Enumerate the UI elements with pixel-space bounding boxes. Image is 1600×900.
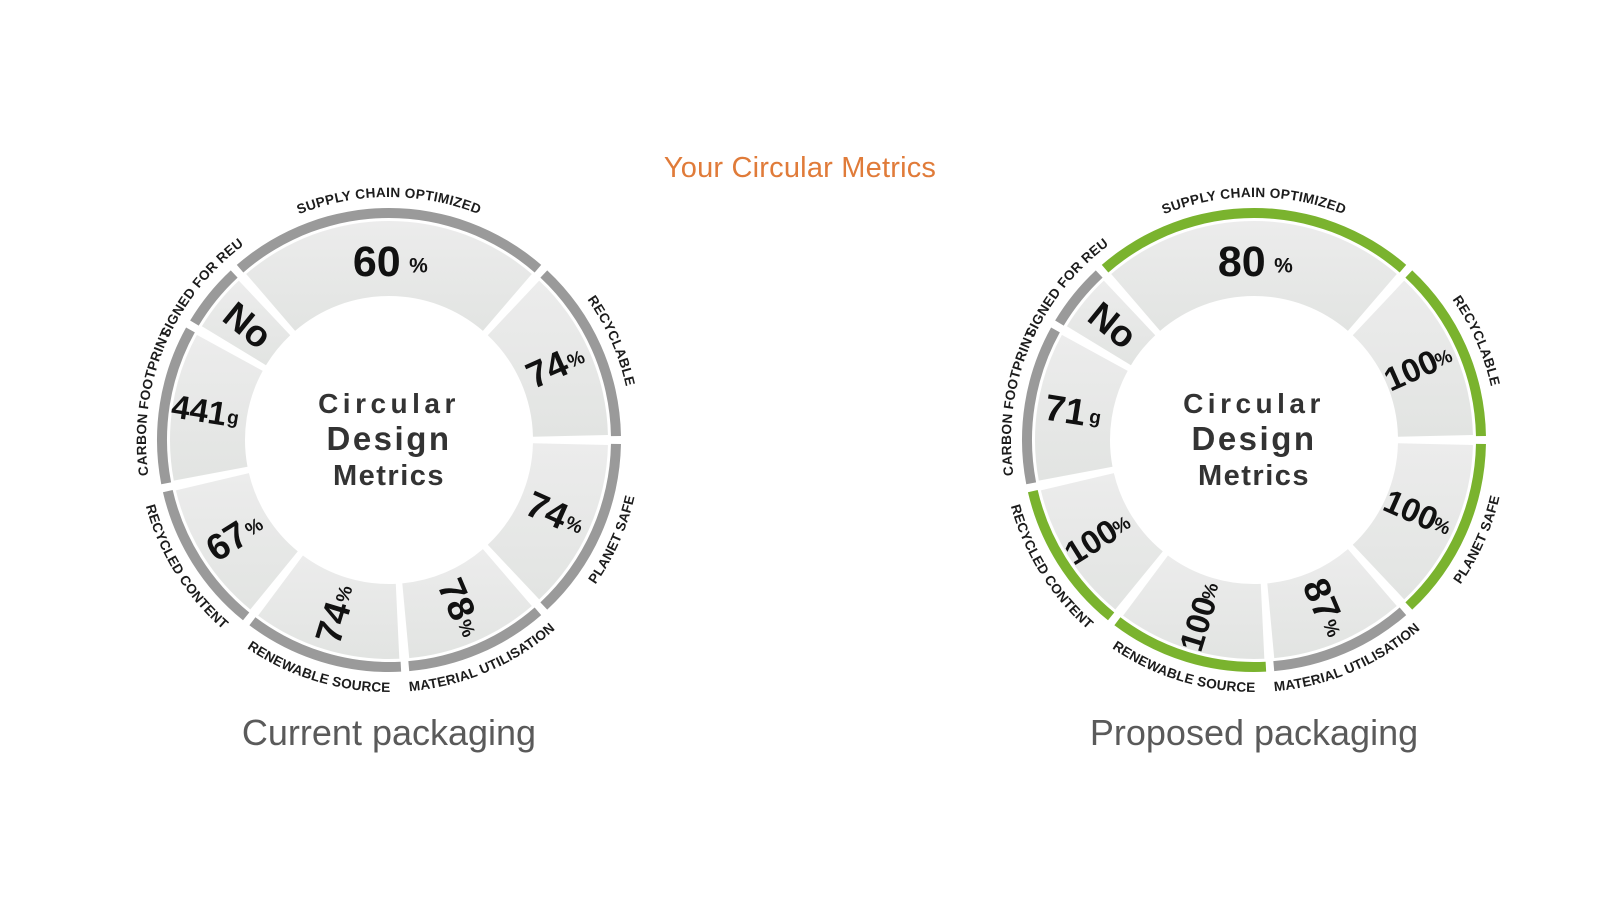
segment-unit: %: [409, 255, 428, 278]
segment-value: 80: [1218, 238, 1266, 286]
infographic-page: Your Circular Metrics 60%74%74%78%74%67%…: [0, 0, 1600, 900]
segment-unit: %: [1274, 255, 1293, 278]
page-title: Your Circular Metrics: [0, 152, 1600, 185]
caption-proposed: Proposed packaging: [1022, 712, 1486, 754]
donut-chart-current: 60%74%74%78%74%67%441gNoSUPPLY CHAIN OPT…: [157, 208, 621, 672]
caption-current: Current packaging: [157, 712, 621, 754]
donut-svg: 60%74%74%78%74%67%441gNoSUPPLY CHAIN OPT…: [157, 208, 621, 672]
segment-value: 71: [1042, 387, 1089, 434]
donut-svg: 80%100%100%87%100%100%71gNoSUPPLY CHAIN …: [1022, 208, 1486, 672]
donut-chart-proposed: 80%100%100%87%100%100%71gNoSUPPLY CHAIN …: [1022, 208, 1486, 672]
segment-value: 60: [353, 238, 401, 286]
